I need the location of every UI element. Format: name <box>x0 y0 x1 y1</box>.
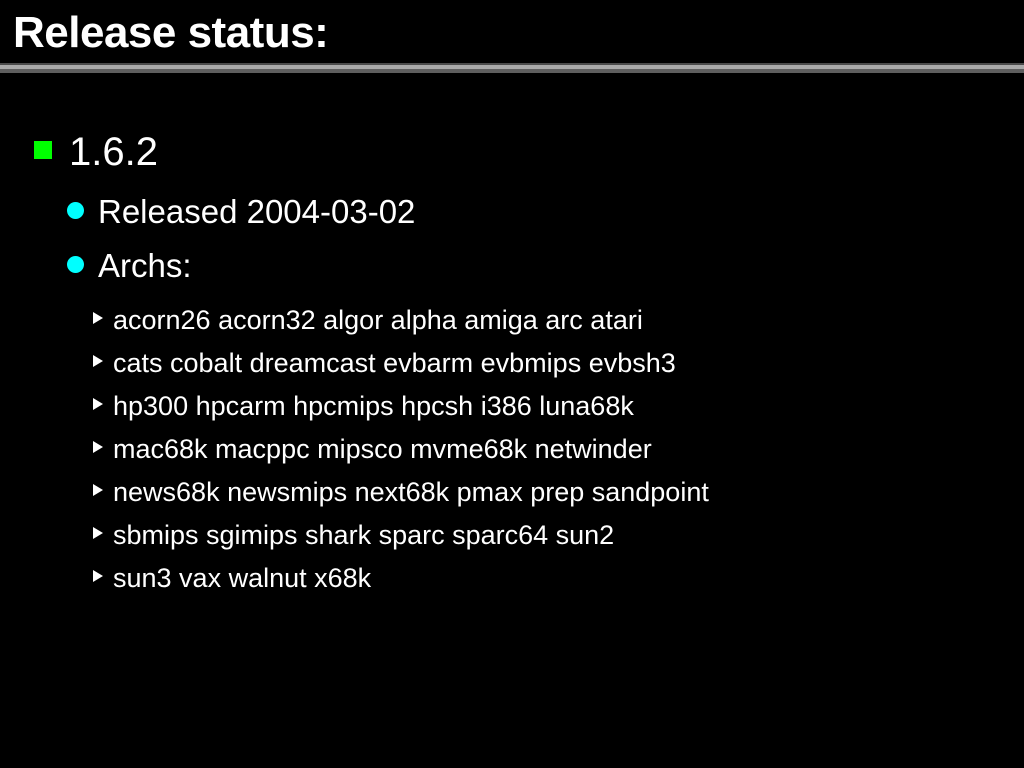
list-item-label: mac68k macppc mipsco mvme68k netwinder <box>113 432 652 466</box>
title-divider <box>0 63 1024 73</box>
list-item-label: cats cobalt dreamcast evbarm evbmips evb… <box>113 346 676 380</box>
circle-bullet-icon <box>67 202 84 219</box>
list-item: cats cobalt dreamcast evbarm evbmips evb… <box>93 344 676 378</box>
list-item-label: sun3 vax walnut x68k <box>113 561 371 595</box>
triangle-right-bullet-icon <box>93 441 103 453</box>
circle-bullet-icon <box>67 256 84 273</box>
presentation-slide: Release status: 1.6.2 Released 2004-03-0… <box>0 0 1024 768</box>
list-item: mac68k macppc mipsco mvme68k netwinder <box>93 430 652 464</box>
list-item: sun3 vax walnut x68k <box>93 559 371 593</box>
outline-item-version-label: 1.6.2 <box>69 129 158 175</box>
list-item: hp300 hpcarm hpcmips hpcsh i386 luna68k <box>93 387 634 421</box>
triangle-right-bullet-icon <box>93 312 103 324</box>
outline-item-archs-label: Archs: <box>98 246 192 286</box>
list-item-label: acorn26 acorn32 algor alpha amiga arc at… <box>113 303 643 337</box>
outline-item-archs: Archs: <box>67 244 192 284</box>
list-item-label: hp300 hpcarm hpcmips hpcsh i386 luna68k <box>113 389 634 423</box>
triangle-right-bullet-icon <box>93 527 103 539</box>
triangle-right-bullet-icon <box>93 398 103 410</box>
square-bullet-icon <box>34 141 52 159</box>
outline-item-released-label: Released 2004-03-02 <box>98 192 415 232</box>
list-item: news68k newsmips next68k pmax prep sandp… <box>93 473 709 507</box>
outline-item-version: 1.6.2 <box>34 127 158 173</box>
page-title: Release status: <box>13 7 328 59</box>
triangle-right-bullet-icon <box>93 355 103 367</box>
list-item: acorn26 acorn32 algor alpha amiga arc at… <box>93 301 643 335</box>
list-item: sbmips sgimips shark sparc sparc64 sun2 <box>93 516 614 550</box>
slide-outline-body: 1.6.2 Released 2004-03-02 Archs: acorn26… <box>0 73 1024 768</box>
triangle-right-bullet-icon <box>93 570 103 582</box>
list-item-label: sbmips sgimips shark sparc sparc64 sun2 <box>113 518 614 552</box>
slide-title-area: Release status: <box>0 0 1024 63</box>
list-item-label: news68k newsmips next68k pmax prep sandp… <box>113 475 709 509</box>
outline-item-released: Released 2004-03-02 <box>67 190 415 230</box>
triangle-right-bullet-icon <box>93 484 103 496</box>
